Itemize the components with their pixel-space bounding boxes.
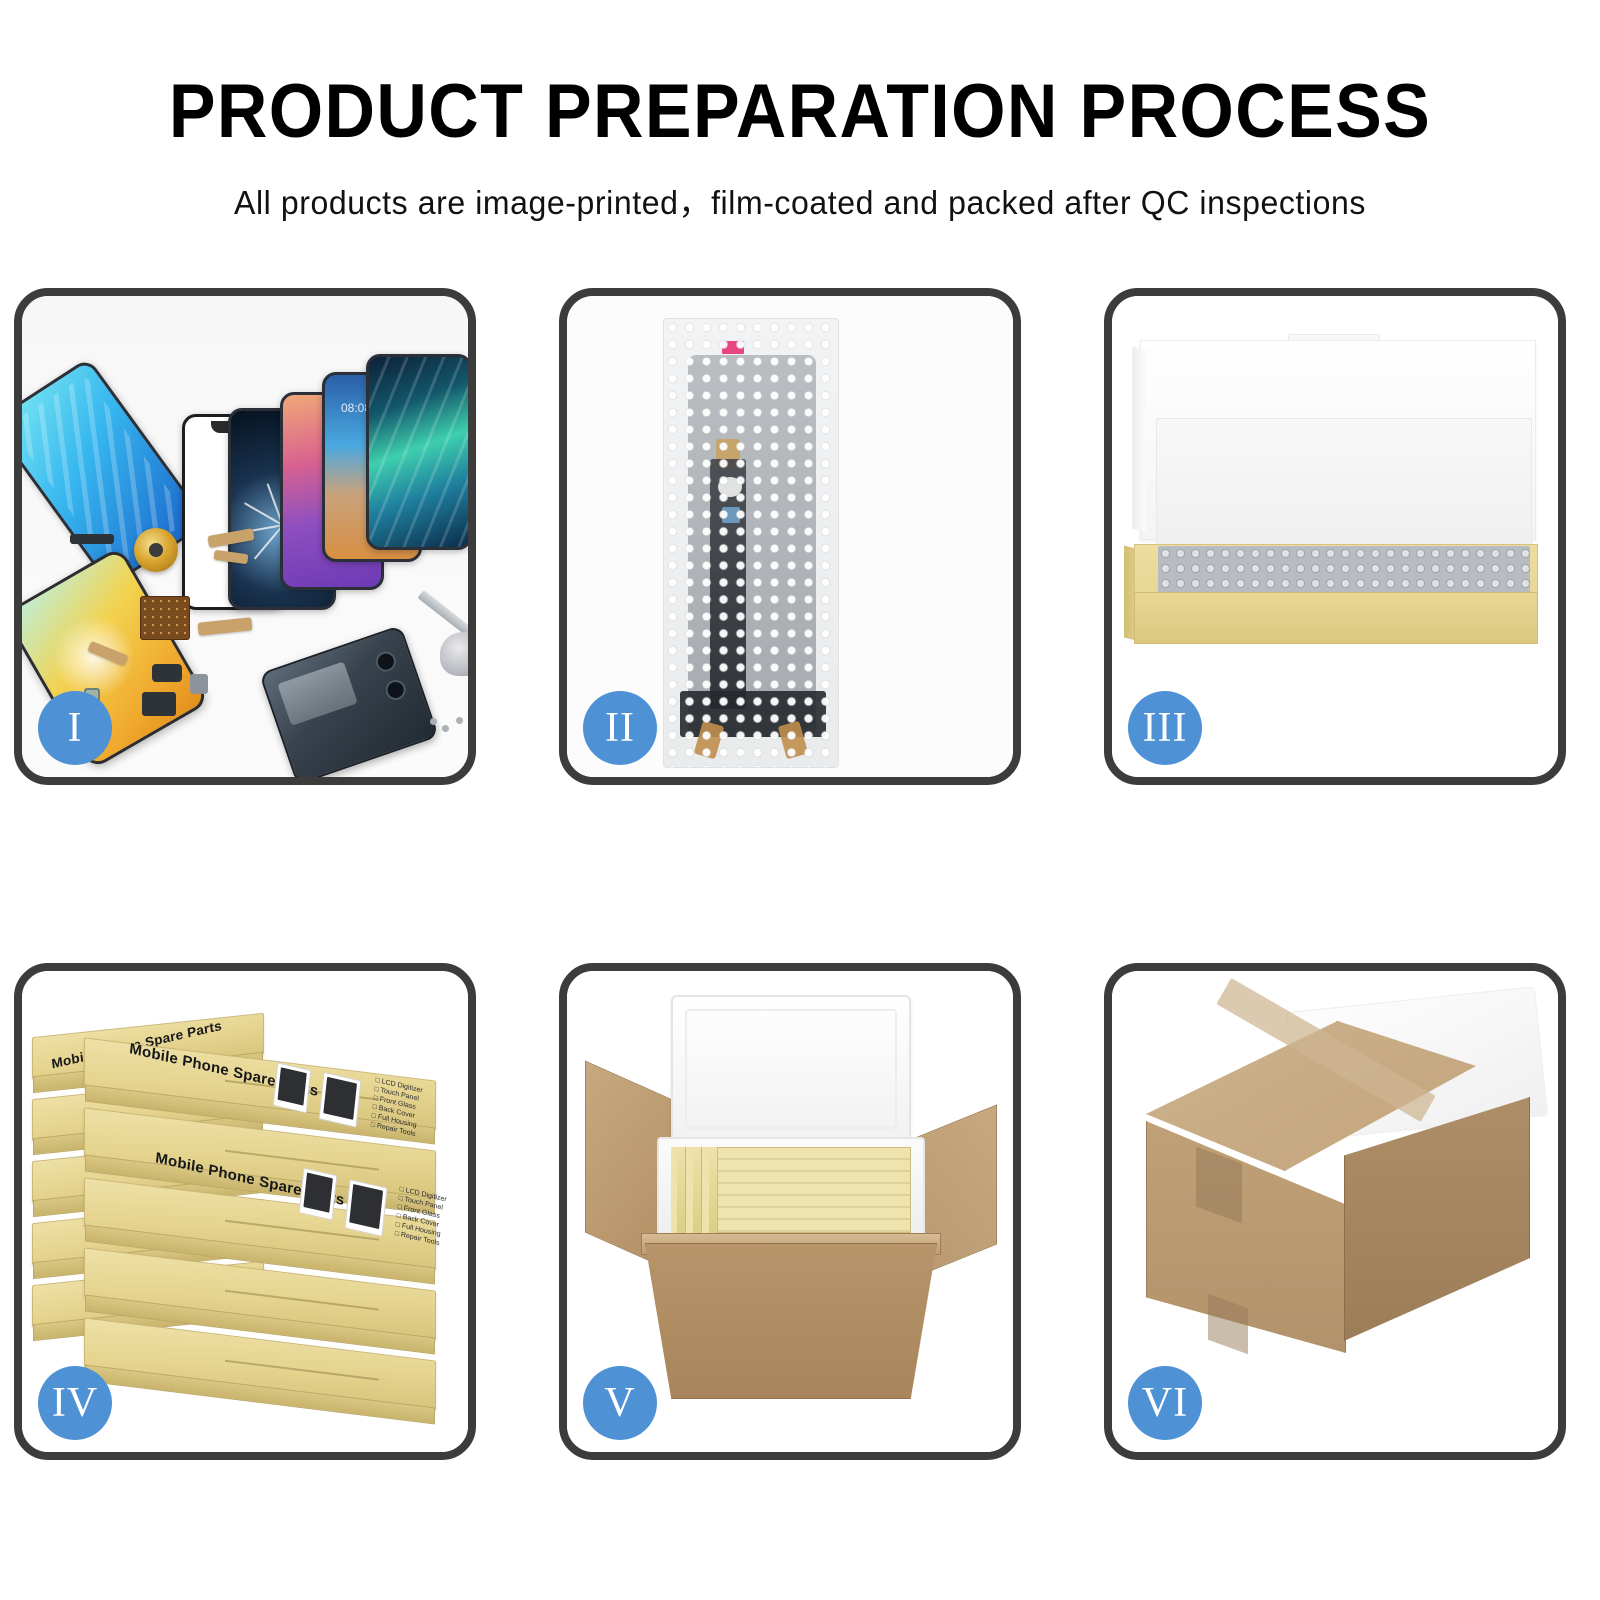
teal-display-image xyxy=(366,354,468,550)
retail-box-checklist-mid: LCD Digitizer Touch Panel Front Glass Ba… xyxy=(394,1185,447,1249)
lcd-flex-connector xyxy=(716,439,740,469)
sensor-part xyxy=(190,674,208,694)
rear-camera-icon-2 xyxy=(383,677,408,702)
step-badge-6: VI xyxy=(1128,1366,1202,1440)
bubble-wrap-package xyxy=(663,318,839,768)
lcd-bottom-flex-right xyxy=(778,721,809,760)
step-panel-4: Mobile Phone Spare Parts Mobile Phone Sp… xyxy=(14,963,476,1460)
rear-camera-icon xyxy=(373,649,398,674)
screws-group xyxy=(430,716,468,736)
retail-box-phone-image-d xyxy=(319,1072,362,1128)
retail-box-phone-image-c xyxy=(273,1062,311,1113)
mailer-lid-side xyxy=(1132,347,1146,532)
retail-box-phone-image-b xyxy=(344,1179,387,1237)
carton-body xyxy=(645,1243,937,1399)
lcd-white-component xyxy=(718,477,742,497)
process-steps-grid: 08:08 I xyxy=(14,288,1586,1460)
foam-cooler-lid xyxy=(671,995,911,1143)
step-badge-1: I xyxy=(38,691,112,765)
step-badge-4: IV xyxy=(38,1366,112,1440)
step-panel-3: III xyxy=(1104,288,1566,785)
lcd-bottom-board xyxy=(680,691,826,737)
ic-chip-part xyxy=(140,596,190,640)
step-badge-2: II xyxy=(583,691,657,765)
gold-box-stack: Mobile Phone Spare Parts Mobile Phone Sp… xyxy=(22,1005,468,1425)
gold-boxes-stacked-flat xyxy=(717,1147,911,1233)
lcd-assembly xyxy=(688,355,816,737)
mailer-box-front xyxy=(1134,592,1538,644)
step-badge-5: V xyxy=(583,1366,657,1440)
lcd-backlight-strip xyxy=(710,459,746,709)
qc-label-sticker xyxy=(722,341,744,354)
retail-box-phone-image-a xyxy=(299,1168,338,1221)
camera-module-part xyxy=(152,664,182,682)
speaker-coil-part xyxy=(134,528,178,572)
page-subtitle: All products are image-printed，film-coat… xyxy=(24,176,1576,224)
page-title: PRODUCT PREPARATION PROCESS xyxy=(64,74,1536,150)
white-foam-sheet xyxy=(1156,418,1532,558)
step-panel-6: VI xyxy=(1104,963,1566,1460)
step-badge-3: III xyxy=(1128,691,1202,765)
page-header: PRODUCT PREPARATION PROCESS All products… xyxy=(0,0,1600,224)
step-panel-2: II xyxy=(559,288,1021,785)
retail-box-checklist-top: LCD Digitizer Touch Panel Front Glass Ba… xyxy=(370,1076,423,1140)
step-panel-5: V xyxy=(559,963,1021,1460)
lcd-bottom-flex-left xyxy=(694,721,725,760)
step-panel-1: 08:08 I xyxy=(14,288,476,785)
earpiece-part xyxy=(70,534,114,544)
lcd-blue-chip xyxy=(722,507,740,523)
vibrator-part xyxy=(142,692,176,716)
